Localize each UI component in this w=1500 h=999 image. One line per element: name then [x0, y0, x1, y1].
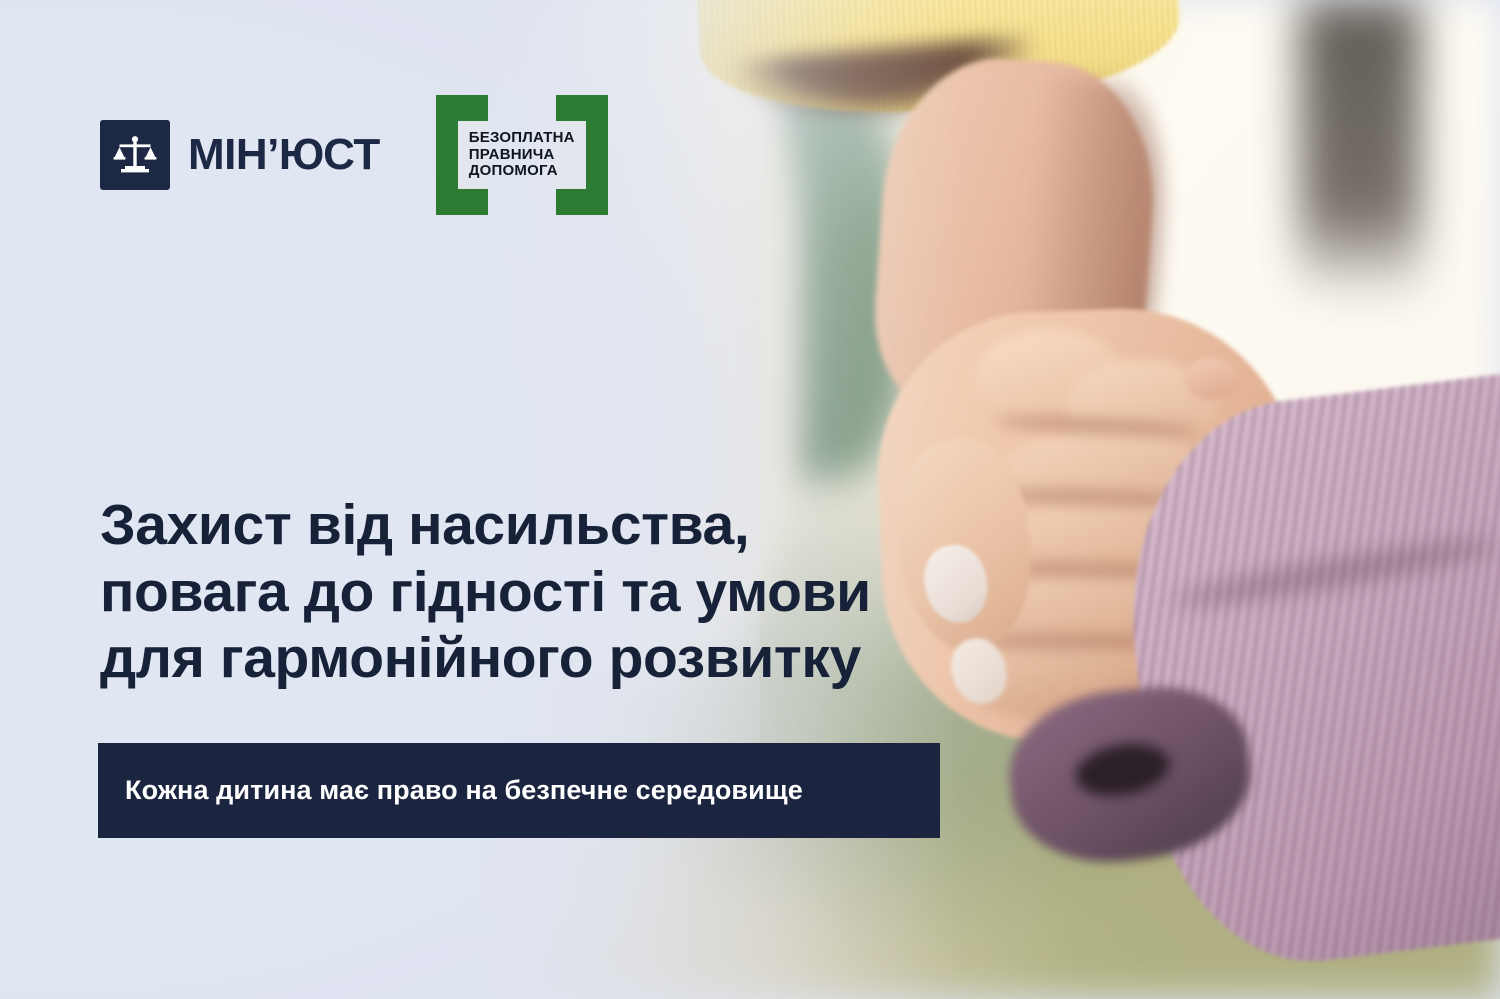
poster-root: МІН’ЮСТ БЕЗОПЛАТНА ПРАВНИЧА ДОПОМОГА Зах… — [0, 0, 1500, 999]
logo-row: МІН’ЮСТ БЕЗОПЛАТНА ПРАВНИЧА ДОПОМОГА — [100, 95, 608, 215]
tagline-banner: Кожна дитина має право на безпечне серед… — [98, 743, 940, 838]
free-legal-aid-logo[interactable]: БЕЗОПЛАТНА ПРАВНИЧА ДОПОМОГА — [436, 95, 608, 215]
ministry-wordmark: МІН’ЮСТ — [188, 133, 380, 177]
legal-aid-line-3: ДОПОМОГА — [469, 163, 575, 180]
free-legal-aid-text: БЕЗОПЛАТНА ПРАВНИЧА ДОПОМОГА — [469, 130, 575, 180]
tagline-text: Кожна дитина має право на безпечне серед… — [125, 775, 803, 806]
legal-aid-line-2: ПРАВНИЧА — [469, 147, 575, 164]
scales-of-justice-icon — [100, 120, 170, 190]
ministry-of-justice-logo[interactable]: МІН’ЮСТ — [100, 120, 380, 190]
legal-aid-line-1: БЕЗОПЛАТНА — [469, 130, 575, 147]
headline: Захист від насильства, повага до гідност… — [100, 492, 871, 692]
